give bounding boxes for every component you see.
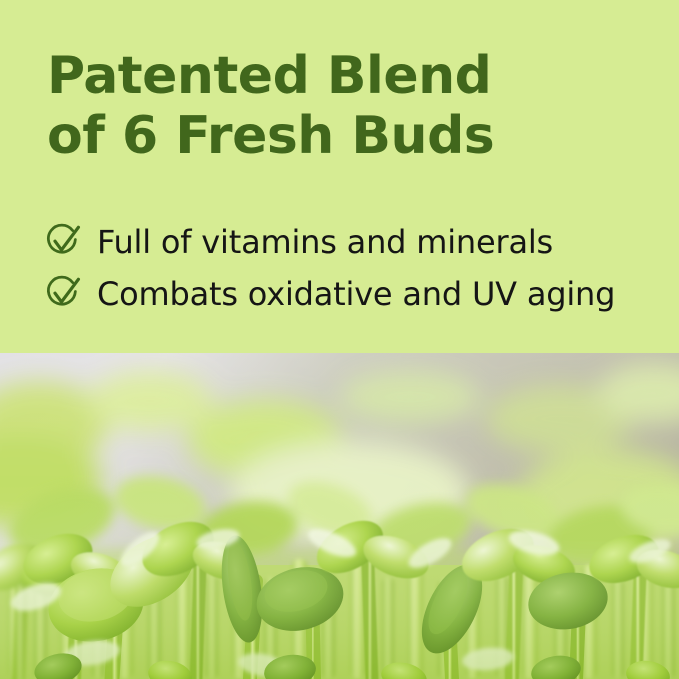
headline-panel: Patented Blend of 6 Fresh Buds Full of v…: [0, 0, 679, 353]
list-item: Full of vitamins and minerals: [44, 215, 669, 267]
sprouts-photo: [0, 353, 679, 679]
headline-line-1: Patented Blend: [47, 46, 659, 106]
benefit-label: Combats oxidative and UV aging: [97, 278, 615, 310]
check-circle-icon: [44, 222, 82, 260]
page-title: Patented Blend of 6 Fresh Buds: [47, 46, 659, 167]
list-item: Combats oxidative and UV aging: [44, 267, 669, 319]
benefit-label: Full of vitamins and minerals: [97, 226, 553, 258]
headline-panel-content: Patented Blend of 6 Fresh Buds: [47, 46, 659, 167]
check-circle-icon: [44, 274, 82, 312]
benefit-list: Full of vitamins and minerals Combats ox…: [44, 215, 669, 319]
product-feature-banner: Patented Blend of 6 Fresh Buds Full of v…: [0, 0, 679, 679]
headline-line-2: of 6 Fresh Buds: [47, 106, 659, 166]
sprouts-illustration: [0, 353, 679, 679]
